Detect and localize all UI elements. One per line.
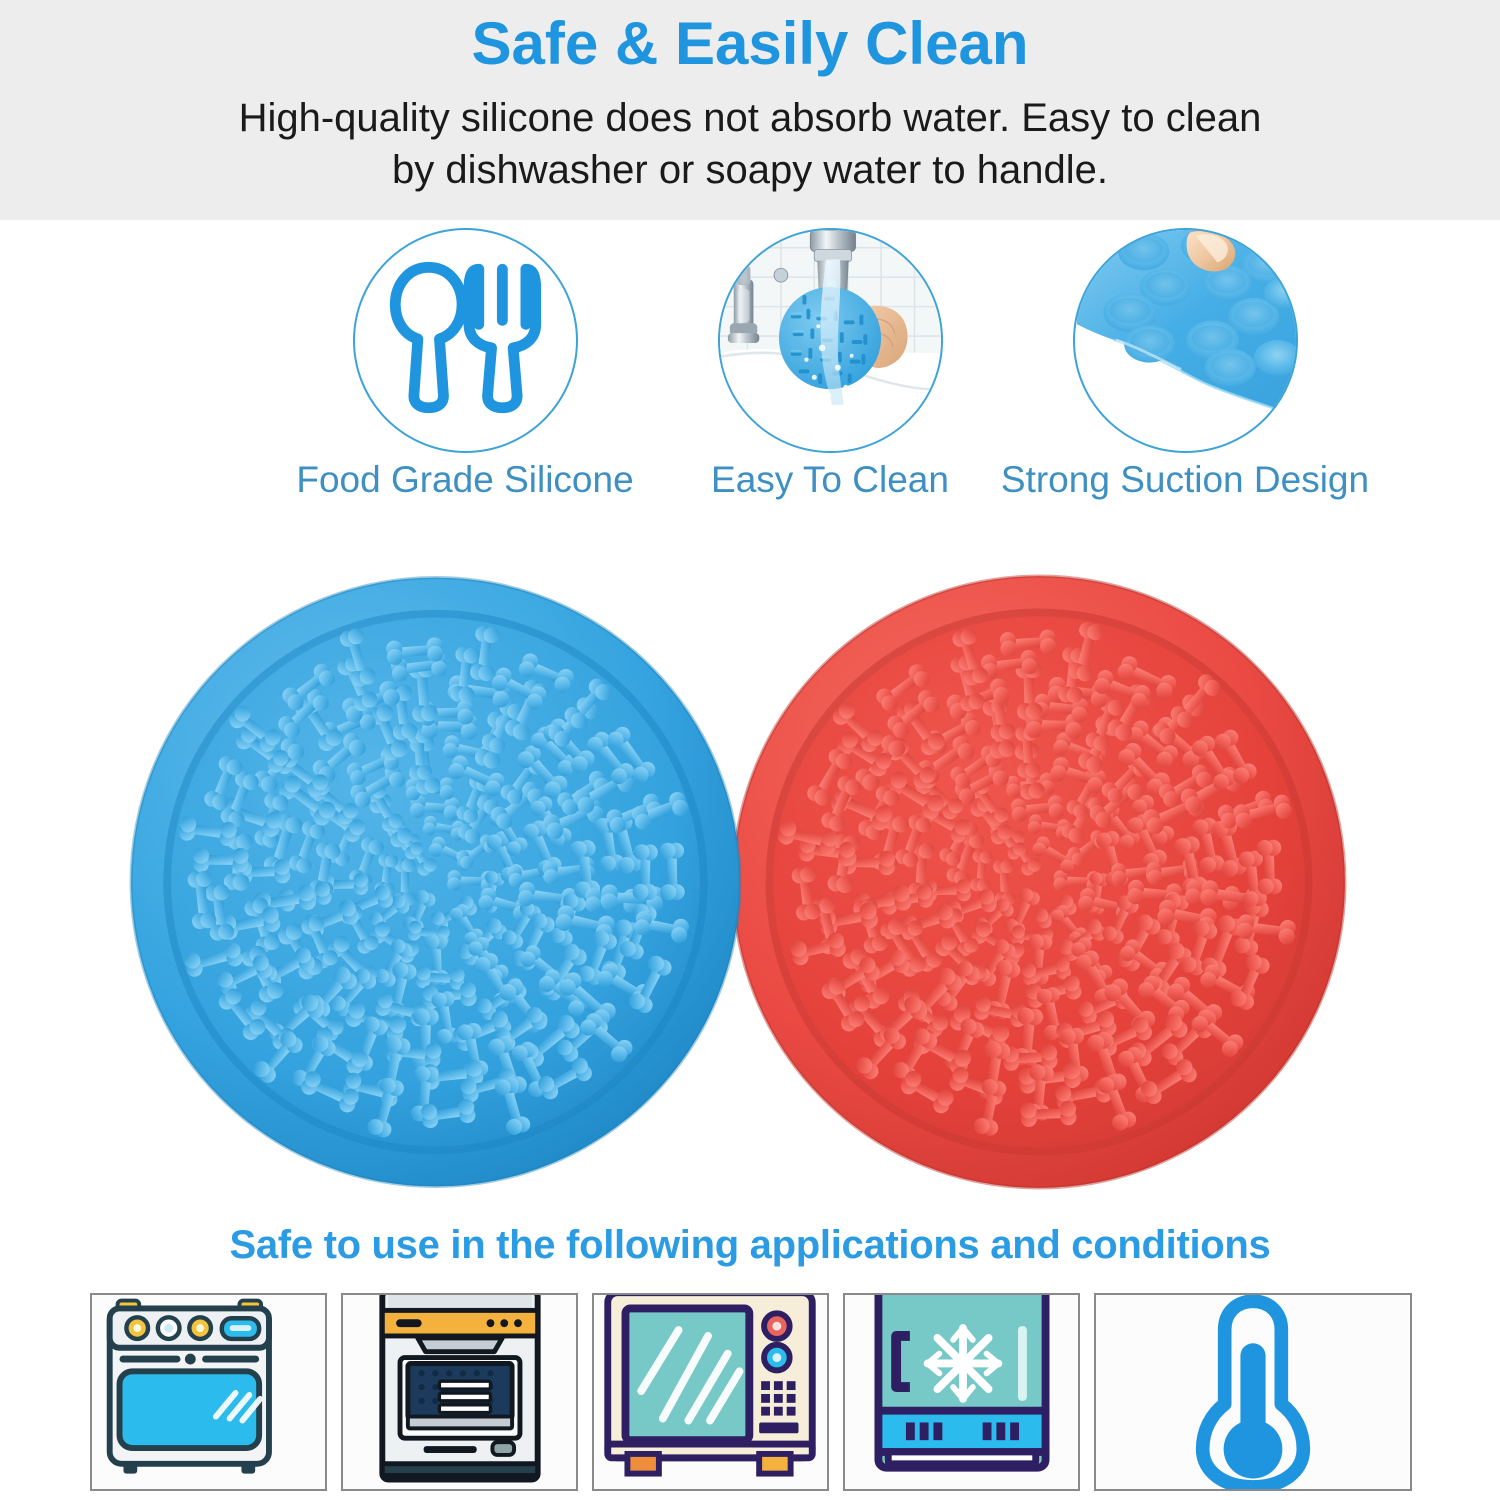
dishwasher-icon [343, 1295, 576, 1489]
silicone-lick-mat-red [730, 546, 1348, 1218]
feature-badge [1073, 228, 1298, 453]
application-panel-dishwasher [341, 1293, 578, 1491]
feature-food-grade-silicone: Food Grade Silicone [255, 228, 675, 501]
heat-resistance-line-1: Heat resistant [1410, 1331, 1412, 1363]
microwave-icon [594, 1295, 827, 1489]
application-panel-freezer [843, 1293, 1080, 1491]
heat-resistance-line-2: up to [1410, 1364, 1412, 1396]
spoon-and-fork-icon [355, 230, 576, 451]
applications-panel-row: Heat resistant up to 450°F [90, 1293, 1420, 1491]
suction-cups-closeup-photo [1075, 230, 1296, 451]
page-subtitle-line-1: High-quality silicone does not absorb wa… [0, 92, 1500, 144]
mat-svg-red [730, 546, 1348, 1218]
feature-badge [718, 228, 943, 453]
feature-label: Strong Suction Design [985, 459, 1385, 501]
heat-resistance-text: Heat resistant up to 450°F [1404, 1331, 1412, 1453]
feature-label: Food Grade Silicone [255, 459, 675, 501]
application-panel-heat-resistant: Heat resistant up to 450°F [1094, 1293, 1412, 1491]
oven-icon [92, 1295, 325, 1489]
faucet-washing-mat-photo [720, 230, 941, 451]
feature-row: Food Grade Silicone [0, 228, 1500, 528]
page-subtitle: High-quality silicone does not absorb wa… [0, 74, 1500, 196]
feature-strong-suction-design: Strong Suction Design [985, 228, 1385, 501]
page-title: Safe & Easily Clean [0, 0, 1500, 74]
header-band: Safe & Easily Clean High-quality silicon… [0, 0, 1500, 220]
feature-label: Easy To Clean [650, 459, 1010, 501]
heat-resistance-temperature: 450°F [1410, 1408, 1412, 1453]
application-panel-oven [90, 1293, 327, 1491]
applications-banner: Safe to use in the following application… [0, 1223, 1500, 1268]
thermometer-icon [1102, 1295, 1404, 1489]
application-panel-microwave [592, 1293, 829, 1491]
product-image-row [0, 528, 1500, 1228]
feature-badge [353, 228, 578, 453]
feature-easy-to-clean: Easy To Clean [650, 228, 1010, 501]
mat-svg-blue [128, 546, 743, 1218]
page-subtitle-line-2: by dishwasher or soapy water to handle. [0, 144, 1500, 196]
silicone-lick-mat-blue [128, 546, 743, 1218]
freezer-icon [845, 1295, 1078, 1489]
